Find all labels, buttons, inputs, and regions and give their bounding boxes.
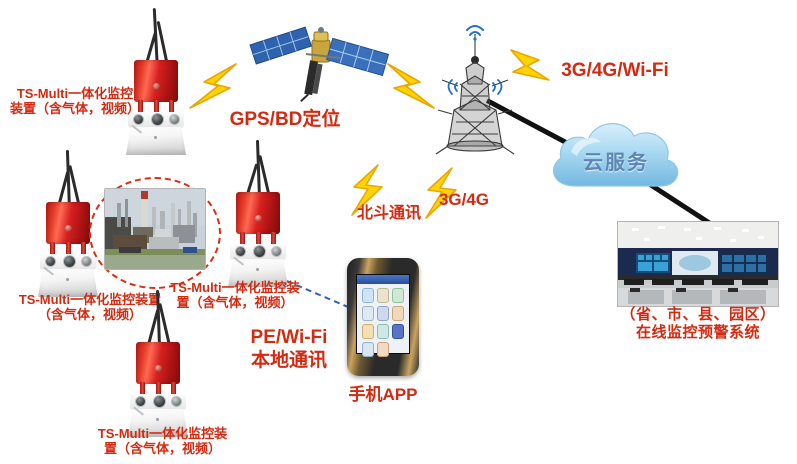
app-icon [392,342,404,355]
sensor-indicator [154,136,157,139]
sensor-base-cone [126,127,186,155]
camera-lens [82,257,91,266]
app-icon[interactable] [377,324,389,339]
mobile-app-label: 手机APP [330,385,436,405]
app-icon[interactable] [392,288,404,303]
sensor-bottom-label: TS-Multi一体化监控装 置（含气体，视频） [75,426,250,457]
sensor-indicator [156,418,159,421]
camera-lens [236,247,245,256]
pe-wifi-label: PE/Wi-Fi 本地通讯 [234,326,344,372]
app-icon[interactable] [362,306,374,321]
app-icon[interactable] [392,324,404,339]
sensor-indicator [256,268,259,271]
beidou-label: 北斗通讯 [342,205,436,224]
sensor-top-left-label: TS-Multi一体化监控 装置（含气体，视频） [0,86,150,117]
camera-lens [272,247,281,256]
app-icon[interactable] [377,306,389,321]
satellite-icon [248,4,396,110]
tablet-app-grid[interactable] [357,284,409,361]
lightning-bolt-sensor-to-satellite [186,62,250,114]
app-icon[interactable] [362,342,374,357]
sensor-device-center[interactable] [212,140,308,290]
sensor-red-housing [236,192,280,234]
diagram-canvas: TS-Multi一体化监控 装置（含气体，视频） TS-Multi一体化监控装置… [0,0,797,464]
app-icon[interactable] [377,288,389,303]
camera-lens [136,397,145,406]
rugged-tablet-device[interactable] [347,258,419,376]
tablet-screen[interactable] [356,274,410,354]
camera-lens [170,115,179,124]
app-icon[interactable] [392,306,404,321]
cell-tower-icon [432,18,518,160]
app-icon[interactable] [362,324,374,339]
cloud-icon[interactable]: 云服务 [541,112,691,198]
plant-photo-art [105,189,205,269]
sensor-red-housing [46,202,90,244]
cloud-label: 云服务 [541,146,691,175]
control-room-photo [617,221,779,307]
camera-lens [152,114,163,125]
industrial-plant-photo [104,188,206,270]
camera-lens [172,397,181,406]
gps-bd-label: GPS/BD定位 [220,109,350,131]
camera-lens [154,396,165,407]
sensor-indicator [66,278,69,281]
sensor-device-bottom[interactable] [112,290,208,440]
camera-lens [254,246,265,257]
3g4g-wifi-label: 3G/4G/Wi-Fi [545,60,685,82]
app-icon[interactable] [362,288,374,303]
tablet-status-bar [357,275,409,284]
camera-lens [64,256,75,267]
3g4g-label: 3G/4G [428,190,500,210]
app-icon[interactable] [377,342,389,357]
control-center-label: （省、市、县、园区） 在线监控预警系统 [600,306,796,341]
lightning-bolt-satellite-to-tower [382,62,438,114]
sensor-red-housing [136,342,180,384]
camera-lens [46,257,55,266]
